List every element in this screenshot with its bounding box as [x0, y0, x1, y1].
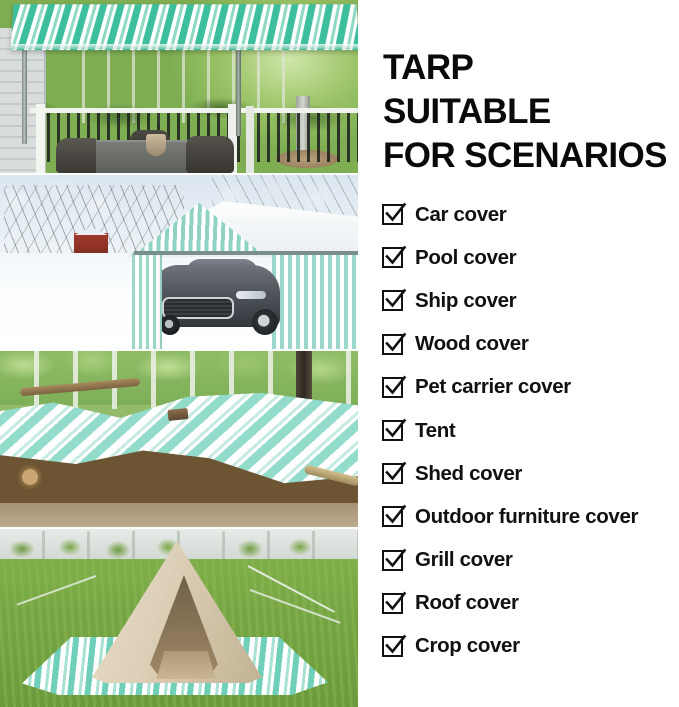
page-title-line-3: FOR SCENARIOS [383, 134, 673, 178]
list-item: Wood cover [382, 323, 679, 366]
checkbox-checked-icon [382, 420, 403, 441]
table-bowl [146, 134, 166, 156]
checkbox-checked-icon [382, 550, 403, 571]
list-item-label: Pet carrier cover [415, 376, 571, 398]
list-item-label: Ship cover [415, 290, 516, 312]
list-item-label: Grill cover [415, 549, 513, 571]
railing-post [36, 104, 45, 173]
checkbox-checked-icon [382, 593, 403, 614]
list-item-label: Outdoor furniture cover [415, 506, 638, 528]
list-item-label: Roof cover [415, 592, 519, 614]
awning-edge [12, 44, 358, 49]
list-item: Pool cover [382, 236, 679, 279]
suv-wheel [160, 315, 180, 335]
page-title-line-1: TARP [383, 46, 673, 90]
list-item: Shed cover [382, 452, 679, 495]
awning-post [22, 44, 27, 144]
content-column: TARP SUITABLE FOR SCENARIOS Car cover Po… [382, 0, 679, 707]
weight-block [167, 408, 188, 421]
list-item: Roof cover [382, 582, 679, 625]
checkbox-checked-icon [382, 377, 403, 398]
list-item: Grill cover [382, 539, 679, 582]
list-item-label: Shed cover [415, 463, 522, 485]
list-item: Ship cover [382, 279, 679, 322]
wicker-chair [186, 136, 234, 173]
checkbox-checked-icon [382, 334, 403, 355]
list-item: Tent [382, 409, 679, 452]
tent-inner-floor [154, 651, 218, 679]
suv-headlight [236, 291, 266, 299]
checkbox-checked-icon [382, 463, 403, 484]
checkbox-checked-icon [382, 247, 403, 268]
checkbox-checked-icon [382, 204, 403, 225]
list-item: Crop cover [382, 625, 679, 668]
suv-wheel [252, 309, 278, 335]
teepee-tent-photo [0, 529, 358, 707]
scenario-list: Car cover Pool cover Ship cover Wood cov… [382, 193, 679, 668]
photo-column [0, 0, 358, 707]
checkbox-checked-icon [382, 636, 403, 657]
checkbox-checked-icon [382, 290, 403, 311]
carport-striped-side-panel [272, 255, 358, 349]
tarp-scenarios-infographic: TARP SUITABLE FOR SCENARIOS Car cover Po… [0, 0, 679, 707]
patio-awning-photo [0, 0, 358, 173]
firewood-tarp-photo [0, 351, 358, 527]
list-item-label: Pool cover [415, 247, 516, 269]
checkbox-checked-icon [382, 506, 403, 527]
page-title: TARP SUITABLE FOR SCENARIOS [383, 46, 673, 178]
railing-post [246, 106, 254, 173]
page-title-line-2: SUITABLE [383, 90, 673, 134]
list-item: Outdoor furniture cover [382, 495, 679, 538]
list-item-label: Tent [415, 420, 455, 442]
list-item-label: Wood cover [415, 333, 528, 355]
list-item: Pet carrier cover [382, 366, 679, 409]
list-item-label: Crop cover [415, 635, 520, 657]
awning-post [236, 46, 241, 136]
carport-striped-side-panel [132, 253, 162, 349]
carport-frame-bar [134, 251, 358, 255]
winter-carport-photo [0, 175, 358, 349]
dirt-ground [0, 503, 358, 527]
list-item: Car cover [382, 193, 679, 236]
list-item-label: Car cover [415, 204, 506, 226]
